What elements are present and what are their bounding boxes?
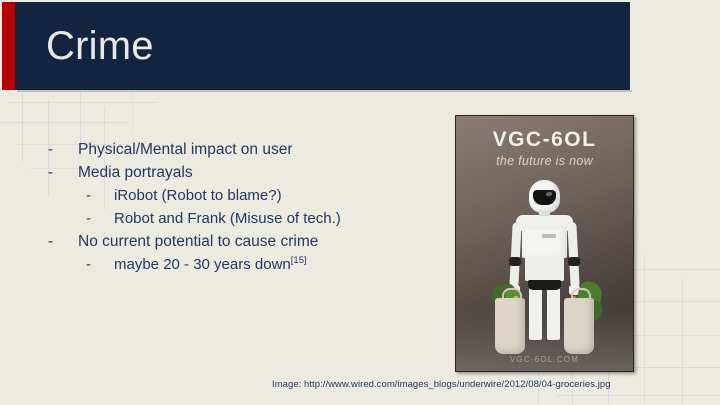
page-title: Crime xyxy=(46,22,154,70)
robot-right-leg xyxy=(547,288,560,340)
robot-chest xyxy=(522,226,567,258)
bullet-text: Robot and Frank (Misuse of tech.) xyxy=(114,207,442,230)
bullet-item: -maybe 20 - 30 years down[15] xyxy=(42,253,442,276)
grid-line-horizontal xyxy=(556,395,720,396)
bullet-list: -Physical/Mental impact on user-Media po… xyxy=(42,138,442,276)
poster-tagline: the future is now xyxy=(456,154,633,168)
robot-right-elbow-joint xyxy=(568,257,580,266)
slide: Crime -Physical/Mental impact on user-Me… xyxy=(0,0,720,405)
poster-url: VGC-6OL.COM xyxy=(456,355,633,364)
robot-right-arm xyxy=(567,222,579,288)
grid-line-horizontal xyxy=(8,102,158,103)
bullet-text: Physical/Mental impact on user xyxy=(78,138,442,161)
bullet-marker: - xyxy=(48,161,78,184)
robot-abdomen xyxy=(525,257,564,281)
bullet-item: -iRobot (Robot to blame?) xyxy=(42,184,442,207)
bullet-item: -Physical/Mental impact on user xyxy=(42,138,442,161)
bullet-marker: - xyxy=(86,184,114,207)
robot-left-elbow-joint xyxy=(509,257,521,266)
bullet-item: -No current potential to cause crime xyxy=(42,230,442,253)
robot-chest-badge xyxy=(542,234,556,238)
grid-line-horizontal xyxy=(0,122,128,123)
image-credit-caption: Image: http://www.wired.com/images_blogs… xyxy=(272,378,611,392)
grid-line-vertical xyxy=(682,279,683,405)
grocery-bag-right xyxy=(564,298,594,354)
robot-left-leg xyxy=(529,288,542,340)
header-shadow xyxy=(17,90,632,92)
robot-visor xyxy=(533,190,556,205)
grid-line-vertical xyxy=(22,92,23,162)
bullet-text: iRobot (Robot to blame?) xyxy=(114,184,442,207)
bullet-item: -Robot and Frank (Misuse of tech.) xyxy=(42,207,442,230)
accent-bar xyxy=(2,2,15,90)
bullet-item: -Media portrayals xyxy=(42,161,442,184)
bullet-text: Media portrayals xyxy=(78,161,442,184)
robot-pelvis xyxy=(528,280,561,290)
grocery-bag-left xyxy=(495,298,525,354)
bullet-text: No current potential to cause crime xyxy=(78,230,442,253)
grid-line-vertical xyxy=(132,92,133,134)
bullet-marker: - xyxy=(48,230,78,253)
poster-title: VGC-6OL xyxy=(456,128,633,152)
robot-left-arm xyxy=(509,222,521,288)
bullet-marker: - xyxy=(86,253,114,276)
robot-poster-image: VGC-6OL the future is now VGC-6OL.COM xyxy=(455,115,634,372)
citation-superscript: [15] xyxy=(291,255,307,266)
bullet-marker: - xyxy=(86,207,114,230)
bullet-text: maybe 20 - 30 years down[15] xyxy=(114,253,442,276)
bullet-marker: - xyxy=(48,138,78,161)
grid-line-vertical xyxy=(644,255,645,405)
